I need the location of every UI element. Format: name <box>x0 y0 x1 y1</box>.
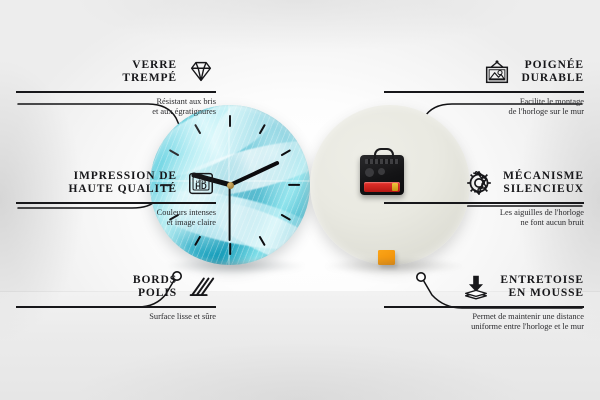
callout-title: BORDS POLIS <box>133 274 177 301</box>
callout-description: Surface lisse et sûre <box>16 312 216 323</box>
callout-rule <box>16 91 216 93</box>
ultra-hd-large-text: HD <box>195 182 207 191</box>
callout-verre-trempe: VERRE TREMPÉ Résistant aux bris et aux é… <box>16 57 216 118</box>
callout-title: ENTRETOISE EN MOUSSE <box>500 274 584 301</box>
callout-description: Couleurs intenses et image claire <box>16 208 216 229</box>
ultra-hd-icon: ultra HD <box>186 168 216 198</box>
callout-title: IMPRESSION DE HAUTE QUALITÉ <box>68 170 177 197</box>
callout-entretoise-mousse: ENTRETOISE EN MOUSSE Permet de maintenir… <box>384 272 584 333</box>
callout-title: VERRE TREMPÉ <box>122 59 177 86</box>
callout-title: POIGNÉE DURABLE <box>521 59 584 86</box>
diamond-icon <box>186 57 216 87</box>
callout-poignee-durable: POIGNÉE DURABLE Facilite le montage de l… <box>384 57 584 118</box>
callout-rule <box>16 306 216 308</box>
foam-spacer-icon <box>461 272 491 302</box>
infographic-canvas: VERRE TREMPÉ Résistant aux bris et aux é… <box>0 0 600 400</box>
callout-rule <box>384 306 584 308</box>
gear-icon <box>464 168 494 198</box>
polished-edges-icon <box>186 272 216 302</box>
callout-rule <box>384 202 584 204</box>
callout-description: Facilite le montage de l'horloge sur le … <box>384 97 584 118</box>
callout-mecanisme-silencieux: MÉCANISME SILENCIEUX Les aiguilles de l'… <box>384 168 584 229</box>
callout-impression-hd: IMPRESSION DE HAUTE QUALITÉ ultra HD Cou… <box>16 168 216 229</box>
callout-description: Les aiguilles de l'horloge ne font aucun… <box>384 208 584 229</box>
callout-title: MÉCANISME SILENCIEUX <box>503 170 584 197</box>
callout-description: Résistant aux bris et aux égratignures <box>16 97 216 118</box>
callout-bords-polis: BORDS POLIS Surface lisse et sûre <box>16 272 216 322</box>
picture-hanger-icon <box>482 57 512 87</box>
callout-rule <box>384 91 584 93</box>
callout-rule <box>16 202 216 204</box>
callout-description: Permet de maintenir une distance uniform… <box>384 312 584 333</box>
